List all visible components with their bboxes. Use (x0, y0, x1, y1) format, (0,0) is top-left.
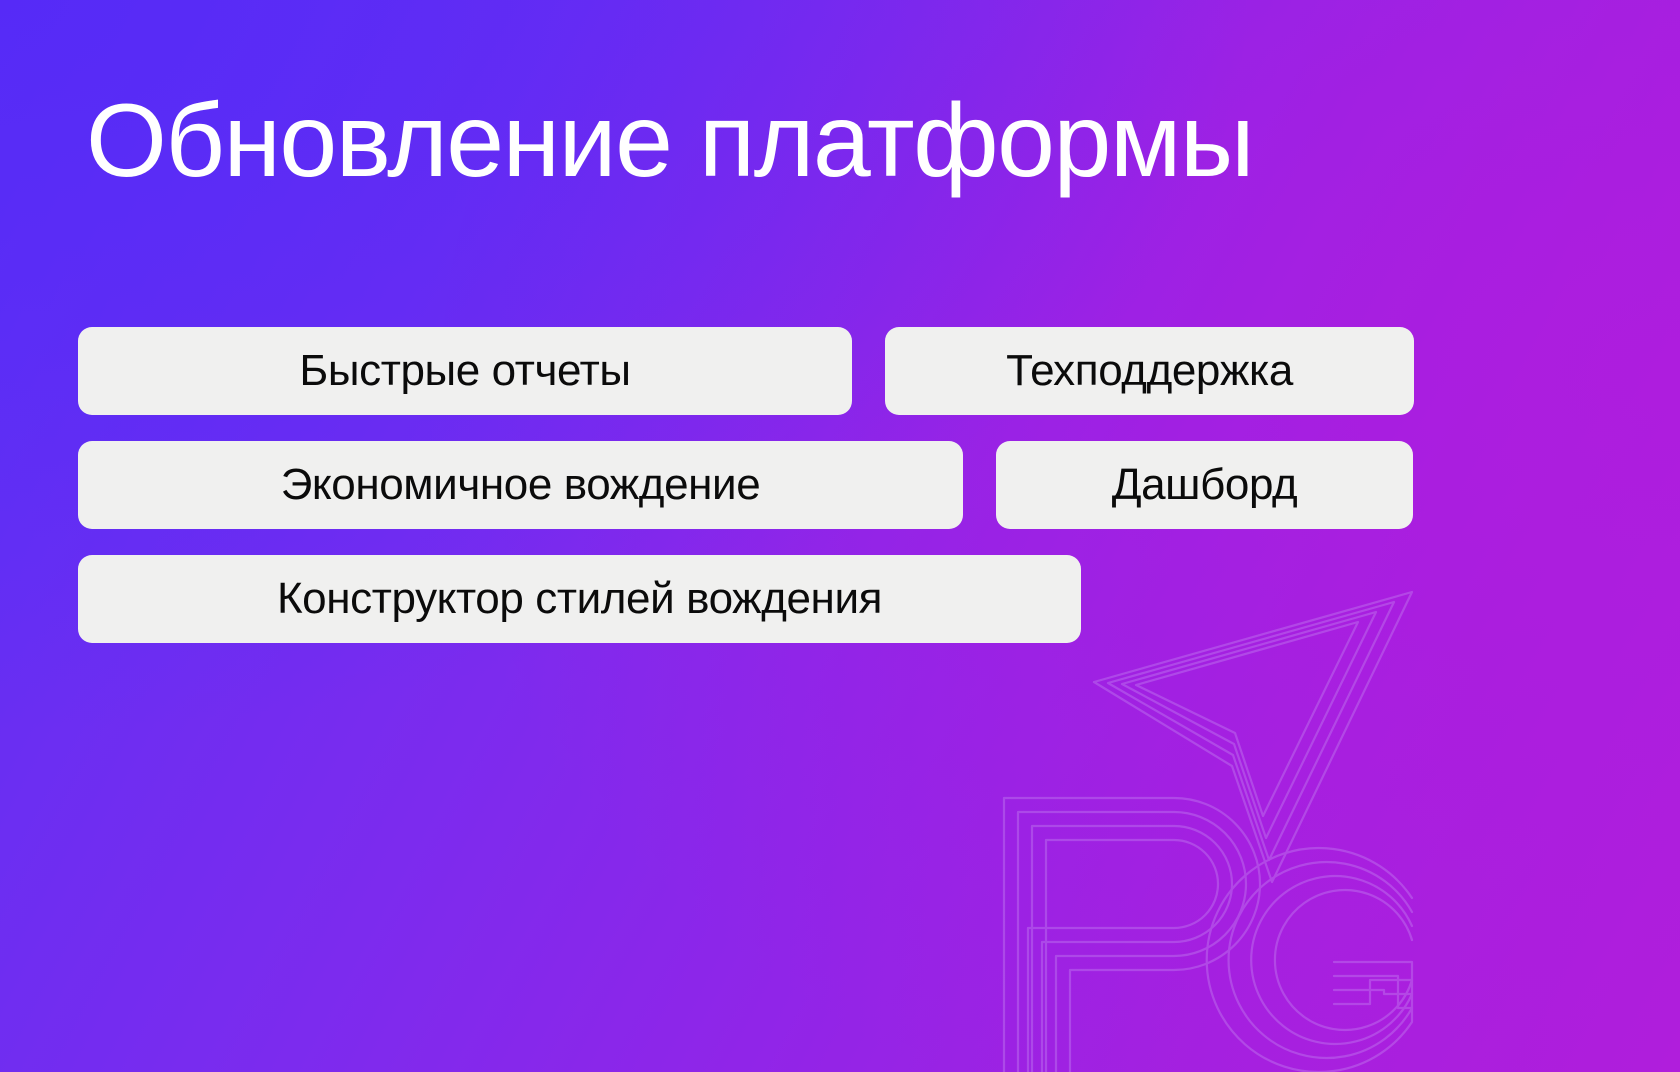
feature-pill-dashboard[interactable]: Дашборд (996, 441, 1413, 529)
presentation-slide: Обновление платформы Быстрые отчеты Техп… (0, 0, 1680, 1072)
feature-pill-eco-driving[interactable]: Экономичное вождение (78, 441, 963, 529)
slide-content: Обновление платформы Быстрые отчеты Техп… (0, 0, 1680, 1072)
feature-row-3: Конструктор стилей вождения (78, 555, 1680, 643)
feature-pill-tech-support[interactable]: Техподдержка (885, 327, 1414, 415)
feature-pill-driving-style-builder[interactable]: Конструктор стилей вождения (78, 555, 1081, 643)
feature-pill-list: Быстрые отчеты Техподдержка Экономичное … (78, 327, 1680, 643)
page-title: Обновление платформы (86, 86, 1253, 196)
feature-row-2: Экономичное вождение Дашборд (78, 441, 1680, 529)
feature-pill-fast-reports[interactable]: Быстрые отчеты (78, 327, 852, 415)
feature-row-1: Быстрые отчеты Техподдержка (78, 327, 1680, 415)
